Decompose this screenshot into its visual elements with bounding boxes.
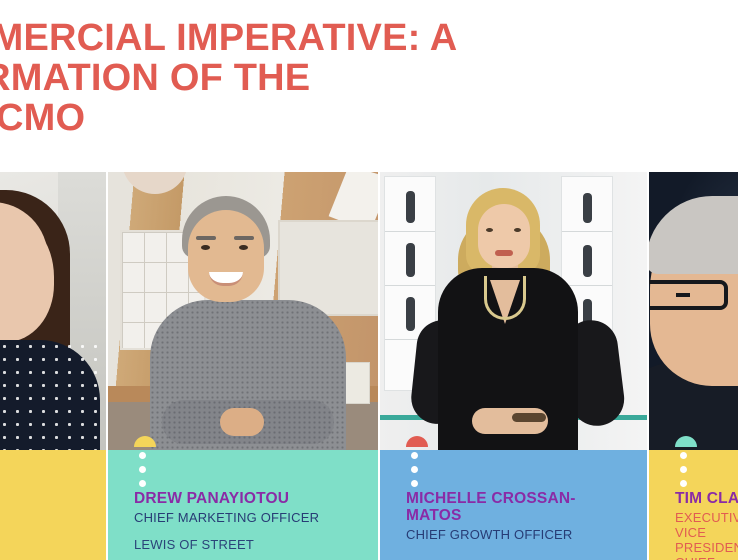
speaker-role-3: CHIEF GROWTH OFFICER <box>406 527 647 542</box>
speaker-info-3: MICHELLE CROSSAN-MATOS CHIEF GROWTH OFFI… <box>380 450 647 560</box>
dome-icon <box>134 436 156 447</box>
portrait-illustration-2 <box>108 172 378 450</box>
speaker-company-2: LEWIS OF STREET <box>134 537 378 552</box>
portrait-illustration-3 <box>380 172 647 450</box>
speaker-photo-4 <box>649 172 738 450</box>
dome-icon <box>675 436 697 447</box>
card-decoration-2 <box>134 436 156 494</box>
speaker-role-2: CHIEF MARKETING OFFICER <box>134 510 378 525</box>
dots-icon <box>139 452 156 487</box>
dots-icon <box>411 452 428 487</box>
speaker-strip: DREW PANAYIOTOU CHIEF MARKETING OFFICER … <box>0 172 740 560</box>
speaker-card-4[interactable]: TIM CLARK EXECUTIVE VICE PRESIDENT, CHIE… <box>647 172 738 560</box>
speaker-role-4: EXECUTIVE VICE PRESIDENT, CHIEF BRAND OF… <box>675 510 738 560</box>
speaker-name-2: DREW PANAYIOTOU <box>134 490 378 507</box>
portrait-illustration-1 <box>0 172 106 450</box>
speaker-card-2[interactable]: DREW PANAYIOTOU CHIEF MARKETING OFFICER … <box>106 172 378 560</box>
dots-icon <box>680 452 697 487</box>
speaker-name-3: MICHELLE CROSSAN-MATOS <box>406 490 606 524</box>
portrait-illustration-4 <box>649 172 738 450</box>
speaker-card-3[interactable]: MICHELLE CROSSAN-MATOS CHIEF GROWTH OFFI… <box>378 172 647 560</box>
page-root: OMMERCIAL IMPERATIVE: A FORMATION OF THE… <box>0 0 740 560</box>
speaker-info-2: DREW PANAYIOTOU CHIEF MARKETING OFFICER … <box>108 450 378 560</box>
speaker-info-4: TIM CLARK EXECUTIVE VICE PRESIDENT, CHIE… <box>649 450 738 560</box>
card-decoration-3 <box>406 436 428 494</box>
speaker-photo-3 <box>380 172 647 450</box>
hero-section: OMMERCIAL IMPERATIVE: A FORMATION OF THE… <box>0 0 740 172</box>
page-title: OMMERCIAL IMPERATIVE: A FORMATION OF THE… <box>0 18 740 138</box>
speaker-info-1 <box>0 450 106 560</box>
speaker-photo-2 <box>108 172 378 450</box>
card-decoration-4 <box>675 436 697 494</box>
dome-icon <box>406 436 428 447</box>
speaker-photo-1 <box>0 172 106 450</box>
speaker-card-1[interactable] <box>0 172 106 560</box>
